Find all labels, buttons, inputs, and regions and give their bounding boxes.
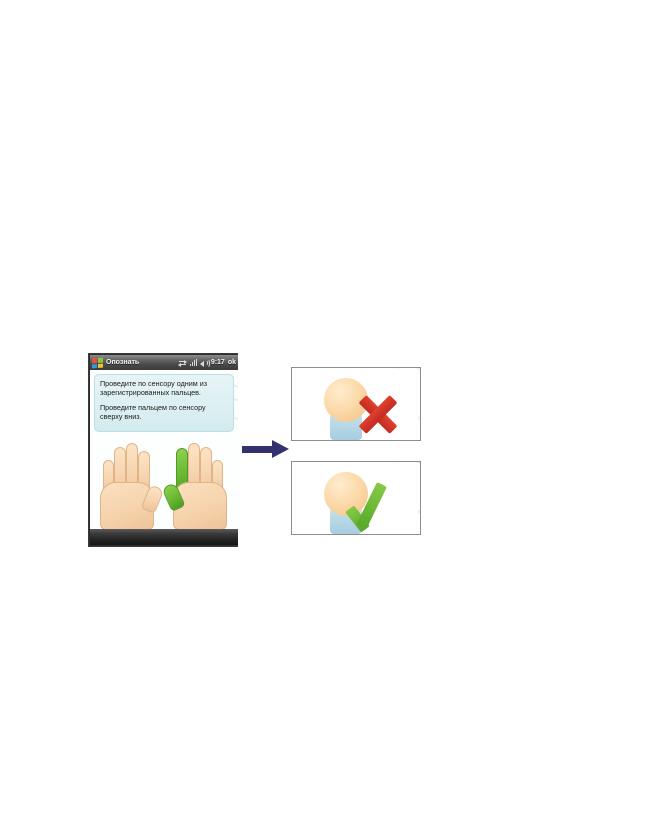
clock-label[interactable]: 9:17 [211,359,225,366]
speaker-icon[interactable] [200,358,209,367]
ok-button[interactable]: ok [227,359,236,366]
red-cross-icon [354,390,402,436]
pda-title-text: Опознать [106,359,178,366]
instruction-line-1: Проведите по сенсору одним из зарегистри… [100,379,228,398]
green-check-icon [350,480,406,532]
instruction-box: Проведите по сенсору одним из зарегистри… [94,374,234,432]
instruction-line-2: Проведите пальцем по сенсору сверху вниз… [100,403,228,422]
pda-status-icons: 9:17 ok [178,358,236,367]
arrow-shaft [242,446,274,453]
windows-mobile-logo-icon[interactable] [92,357,103,368]
signal-icon[interactable] [189,358,198,367]
panel-accept [291,461,421,535]
panel-reject [291,367,421,441]
left-hand-illustration [91,434,163,530]
pda-screen: Проведите по сенсору одним из зарегистри… [90,370,238,530]
pda-device: Опознать 9:17 ok Проведите по сенсору од… [88,353,238,547]
right-hand-illustration [164,434,236,530]
connectivity-icon[interactable] [178,358,187,367]
pda-title-bar: Опознать 9:17 ok [90,355,238,370]
arrow-head [272,440,289,458]
flow-arrow [242,440,290,458]
pda-hardware-bar [90,529,238,545]
hands-illustration [90,434,238,530]
